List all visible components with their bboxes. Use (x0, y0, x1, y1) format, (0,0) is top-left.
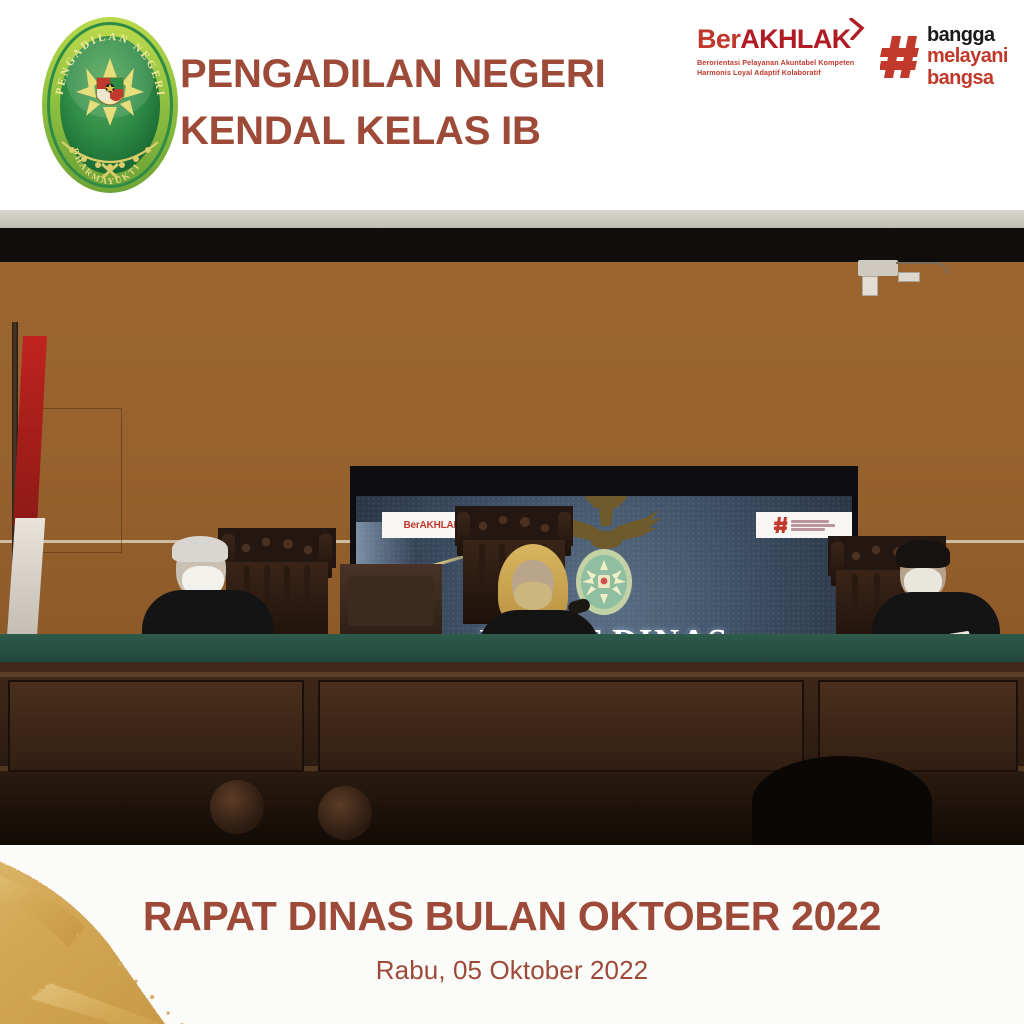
chevron-right-icon (849, 18, 865, 40)
face-mask-icon (514, 582, 552, 610)
event-photo: BerAKHLAK (0, 210, 1024, 845)
slide-bangga-lockup (774, 517, 835, 533)
caption-subtitle: Rabu, 05 Oktober 2022 (0, 955, 1024, 986)
berakhlak-wordmark-suffix: AKHLAK (740, 24, 850, 54)
table-leg-knob (210, 780, 264, 834)
bangga-melayani-bangsa-logo: bangga melayani bangsa (880, 18, 1010, 96)
caption-bar: RAPAT DINAS BULAN OKTOBER 2022 Rabu, 05 … (0, 845, 1024, 1024)
hashtag-icon (880, 34, 920, 80)
table-leg-knob (318, 786, 372, 840)
hair (172, 536, 228, 562)
chair-spindle (304, 566, 310, 608)
flag-red-band (13, 336, 47, 526)
wall-plate (898, 272, 920, 282)
slide-bangga-badge (756, 512, 852, 538)
bench-green-cloth (0, 634, 1024, 662)
chair-seat-pad (348, 576, 434, 626)
bangga-line-1: bangga (927, 25, 1008, 46)
hair (896, 540, 950, 568)
poster-root: PENGADILAN NEGERI KENDAL (0, 0, 1024, 1024)
court-seal-icon: PENGADILAN NEGERI KENDAL (38, 14, 182, 196)
projector-icon (858, 260, 898, 276)
indonesia-flag-icon (2, 322, 44, 652)
projector-mount (862, 276, 878, 296)
bench-panel (318, 680, 804, 772)
berakhlak-tagline-line-2: Harmonis Loyal Adaptif Kolaboratif (697, 68, 821, 77)
institution-line-2: KENDAL KELAS IB (180, 103, 700, 160)
berakhlak-logo: BerAKHLAK Berorientasi Pelayanan Akuntab… (697, 26, 865, 90)
chair-spindle (284, 566, 290, 608)
carved-chair (332, 530, 450, 648)
slide-berakhlak-label: BerAKHLAK (403, 520, 460, 531)
berakhlak-wordmark-prefix: Ber (697, 24, 740, 54)
bench-rail (0, 672, 1024, 677)
page-title: PENGADILAN NEGERI KENDAL KELAS IB (180, 46, 700, 160)
foreground-attendee (752, 756, 932, 845)
bangga-line-3: bangsa (927, 68, 1008, 89)
header: PENGADILAN NEGERI KENDAL (0, 0, 1024, 210)
berakhlak-tagline: Berorientasi Pelayanan Akuntabel Kompete… (697, 58, 865, 79)
berakhlak-wordmark: BerAKHLAK (697, 26, 865, 53)
caption-title: RAPAT DINAS BULAN OKTOBER 2022 (0, 893, 1024, 940)
slide-bangga-text-lines (791, 520, 835, 531)
bangga-line-2: melayani (927, 46, 1008, 67)
ceiling (0, 210, 1024, 230)
hashtag-icon (774, 517, 788, 533)
chair-ornament (473, 508, 555, 538)
chair-spindle (852, 574, 858, 616)
microphone-head (567, 597, 592, 616)
bangga-wordmark: bangga melayani bangsa (927, 25, 1008, 89)
berakhlak-tagline-line-1: Berorientasi Pelayanan Akuntabel Kompete… (697, 58, 854, 67)
bench-panel (8, 680, 304, 772)
institution-line-1: PENGADILAN NEGERI (180, 46, 700, 103)
